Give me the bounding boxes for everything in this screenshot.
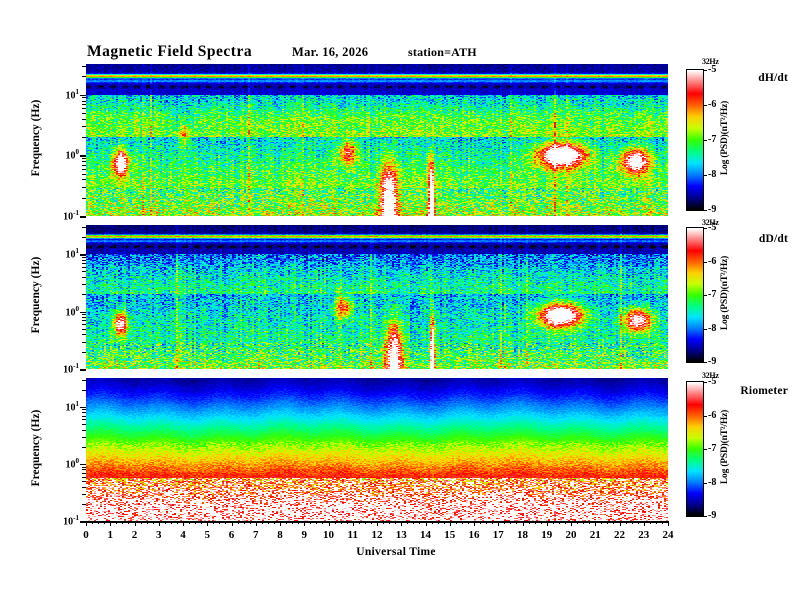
- x-tick: [644, 521, 645, 526]
- y-tick-minor: [82, 329, 86, 330]
- x-tick-minor: [274, 521, 275, 524]
- x-tick: [135, 521, 136, 526]
- colorbar-tick: [703, 416, 707, 417]
- spectrogram-panel-riometer: [86, 378, 668, 521]
- y-tick-minor: [82, 237, 86, 238]
- x-tick-minor: [432, 521, 433, 524]
- x-tick-minor: [529, 521, 530, 524]
- x-tick-minor: [516, 521, 517, 524]
- y-tick-major: [80, 95, 86, 97]
- y-tick-major: [80, 464, 86, 466]
- y-tick-minor: [82, 284, 86, 285]
- x-tick-minor: [341, 521, 342, 524]
- x-tick-label: 24: [654, 529, 682, 541]
- x-tick-minor: [322, 521, 323, 524]
- panel-label-dhdt: dH/dt: [706, 72, 792, 84]
- colorbar-tick: [703, 362, 707, 363]
- x-tick-minor: [244, 521, 245, 524]
- y-tick-minor: [82, 342, 86, 343]
- figure-canvas: Magnetic Field Spectra Mar. 16, 2026 sta…: [0, 0, 792, 612]
- y-tick-minor: [82, 271, 86, 272]
- x-tick: [183, 521, 184, 526]
- x-tick-minor: [468, 521, 469, 524]
- y-tick-minor: [82, 314, 86, 315]
- colorbar-tick: [703, 329, 707, 330]
- panel-label-dddt: dD/dt: [706, 233, 792, 245]
- y-tick-minor: [82, 126, 86, 127]
- x-tick-minor: [480, 521, 481, 524]
- y-tick-minor: [82, 260, 86, 261]
- y-tick-minor: [82, 161, 86, 162]
- x-tick-minor: [141, 521, 142, 524]
- y-tick-major: [80, 254, 86, 256]
- x-tick: [232, 521, 233, 526]
- x-tick-minor: [559, 521, 560, 524]
- colorbar-tick: [703, 228, 707, 229]
- x-tick-minor: [189, 521, 190, 524]
- y-tick-label: 100: [46, 305, 79, 318]
- x-tick-minor: [456, 521, 457, 524]
- colorbar-tick-label: -5: [708, 222, 716, 233]
- colorbar-tick: [703, 105, 707, 106]
- y-tick-major: [80, 216, 86, 218]
- x-tick-minor: [147, 521, 148, 524]
- x-tick-minor: [462, 521, 463, 524]
- y-tick-minor: [82, 390, 86, 391]
- x-tick-minor: [371, 521, 372, 524]
- colorbar-tick: [703, 70, 707, 71]
- x-tick-minor: [359, 521, 360, 524]
- x-tick: [474, 521, 475, 526]
- y-tick-major: [80, 369, 86, 371]
- x-tick: [280, 521, 281, 526]
- y-tick-minor: [82, 412, 86, 413]
- y-tick-minor: [82, 108, 86, 109]
- y-tick-minor: [82, 165, 86, 166]
- colorbar-tick: [703, 262, 707, 263]
- y-tick-minor: [82, 324, 86, 325]
- x-tick-minor: [219, 521, 220, 524]
- x-tick-minor: [316, 521, 317, 524]
- colorbar-tick-label: -9: [708, 510, 716, 521]
- y-tick-minor: [82, 334, 86, 335]
- x-tick-minor: [486, 521, 487, 524]
- y-tick-label: 10-1: [46, 362, 79, 375]
- y-tick-label: 10-1: [46, 209, 79, 222]
- colorbar-tick-label: -8: [708, 169, 716, 180]
- x-tick: [547, 521, 548, 526]
- x-tick-minor: [419, 521, 420, 524]
- x-tick-minor: [171, 521, 172, 524]
- y-tick-minor: [82, 437, 86, 438]
- x-tick: [353, 521, 354, 526]
- y-tick-minor: [82, 137, 86, 138]
- x-tick-minor: [650, 521, 651, 524]
- colorbar-tick: [703, 382, 707, 383]
- y-tick-minor: [82, 257, 86, 258]
- x-tick-minor: [128, 521, 129, 524]
- y-tick-minor: [82, 487, 86, 488]
- x-tick-minor: [626, 521, 627, 524]
- y-tick-minor: [82, 380, 86, 381]
- x-tick-minor: [638, 521, 639, 524]
- x-tick-minor: [407, 521, 408, 524]
- y-tick-label: 101: [46, 88, 79, 101]
- panel-label-riometer: Riometer: [706, 385, 792, 397]
- x-tick: [377, 521, 378, 526]
- x-tick-minor: [365, 521, 366, 524]
- x-tick-minor: [413, 521, 414, 524]
- colorbar-tick-label: -8: [708, 323, 716, 334]
- x-tick-minor: [98, 521, 99, 524]
- x-tick-minor: [389, 521, 390, 524]
- x-tick-minor: [195, 521, 196, 524]
- y-tick-major: [80, 407, 86, 409]
- x-tick-minor: [238, 521, 239, 524]
- y-tick-minor: [82, 467, 86, 468]
- x-tick-minor: [177, 521, 178, 524]
- x-tick-minor: [504, 521, 505, 524]
- x-tick-minor: [165, 521, 166, 524]
- y-tick-minor: [82, 169, 86, 170]
- colorbar-tick-label: -5: [708, 64, 716, 75]
- x-tick-minor: [122, 521, 123, 524]
- x-tick: [304, 521, 305, 526]
- y-tick-minor: [82, 263, 86, 264]
- x-axis-title: Universal Time: [0, 546, 792, 558]
- y-tick-minor: [82, 447, 86, 448]
- y-tick-minor: [82, 267, 86, 268]
- y-tick-minor: [82, 179, 86, 180]
- y-tick-minor: [82, 430, 86, 431]
- y-tick-minor: [82, 174, 86, 175]
- x-tick: [668, 521, 669, 526]
- x-tick-minor: [116, 521, 117, 524]
- y-tick-minor: [82, 187, 86, 188]
- x-tick: [498, 521, 499, 526]
- x-tick-minor: [444, 521, 445, 524]
- y-tick-major: [80, 312, 86, 314]
- x-tick-minor: [201, 521, 202, 524]
- x-tick-minor: [601, 521, 602, 524]
- x-tick-minor: [310, 521, 311, 524]
- y-tick-minor: [82, 277, 86, 278]
- x-tick-minor: [104, 521, 105, 524]
- x-tick-minor: [541, 521, 542, 524]
- x-tick-minor: [613, 521, 614, 524]
- colorbar-tick-label: -7: [708, 443, 716, 454]
- x-tick: [401, 521, 402, 526]
- y-tick-minor: [82, 473, 86, 474]
- y-tick-minor: [82, 494, 86, 495]
- colorbar-frame: [686, 381, 704, 517]
- x-tick-minor: [492, 521, 493, 524]
- colorbar-frame: [686, 69, 704, 211]
- colorbar-title: Log (PSD)(nT²/Hz): [720, 226, 730, 360]
- x-tick-minor: [347, 521, 348, 524]
- colorbar-tick-label: -6: [708, 99, 716, 110]
- y-tick-label: 101: [46, 400, 79, 413]
- x-tick-minor: [395, 521, 396, 524]
- y-tick-minor: [82, 481, 86, 482]
- x-tick-minor: [662, 521, 663, 524]
- x-tick-minor: [213, 521, 214, 524]
- x-tick-minor: [250, 521, 251, 524]
- y-tick-minor: [82, 97, 86, 98]
- x-tick: [620, 521, 621, 526]
- y-tick-minor: [82, 320, 86, 321]
- y-tick-minor: [82, 198, 86, 199]
- spectrogram-panel-dhdt: [86, 64, 668, 216]
- x-tick-minor: [607, 521, 608, 524]
- colorbar-tick-label: -7: [708, 134, 716, 145]
- page-title: Magnetic Field Spectra: [87, 43, 252, 61]
- y-tick-minor: [82, 419, 86, 420]
- y-tick-minor: [82, 352, 86, 353]
- y-tick-minor: [82, 504, 86, 505]
- x-tick-minor: [577, 521, 578, 524]
- x-tick: [595, 521, 596, 526]
- x-tick-minor: [298, 521, 299, 524]
- colorbar-tick: [703, 295, 707, 296]
- colorbar-tick: [703, 210, 707, 211]
- x-tick-minor: [656, 521, 657, 524]
- y-tick-minor: [82, 416, 86, 417]
- colorbar-tick-label: -9: [708, 356, 716, 367]
- y-tick-minor: [82, 469, 86, 470]
- y-tick-minor: [82, 66, 86, 67]
- colorbar-tick-label: -7: [708, 289, 716, 300]
- x-tick-minor: [553, 521, 554, 524]
- y-tick-minor: [82, 317, 86, 318]
- x-tick-minor: [632, 521, 633, 524]
- y-tick-minor: [82, 113, 86, 114]
- x-tick: [256, 521, 257, 526]
- date-label: Mar. 16, 2026: [292, 45, 368, 60]
- y-tick-minor: [82, 227, 86, 228]
- colorbar-tick: [703, 175, 707, 176]
- x-tick: [86, 521, 87, 526]
- x-tick: [571, 521, 572, 526]
- x-tick-minor: [383, 521, 384, 524]
- x-tick: [450, 521, 451, 526]
- y-axis-title: Frequency (Hz): [30, 78, 42, 198]
- x-tick: [207, 521, 208, 526]
- x-tick-minor: [262, 521, 263, 524]
- x-tick: [426, 521, 427, 526]
- y-tick-minor: [82, 477, 86, 478]
- colorbar-tick-label: -9: [708, 204, 716, 215]
- y-tick-major: [80, 155, 86, 157]
- colorbar-tick: [703, 449, 707, 450]
- x-tick-minor: [510, 521, 511, 524]
- y-tick-minor: [82, 409, 86, 410]
- colorbar-tick: [703, 516, 707, 517]
- x-tick: [110, 521, 111, 526]
- x-tick-minor: [292, 521, 293, 524]
- colorbar-tick: [703, 483, 707, 484]
- x-tick-minor: [153, 521, 154, 524]
- x-tick: [329, 521, 330, 526]
- x-tick-minor: [286, 521, 287, 524]
- y-tick-label: 100: [46, 148, 79, 161]
- y-tick-minor: [82, 119, 86, 120]
- spectrogram-panel-dddt: [86, 225, 668, 369]
- y-axis-title: Frequency (Hz): [30, 388, 42, 508]
- y-tick-minor: [82, 294, 86, 295]
- x-tick-minor: [565, 521, 566, 524]
- colorbar-title: Log (PSD)(nT²/Hz): [720, 380, 730, 514]
- y-tick-label: 100: [46, 457, 79, 470]
- x-tick-minor: [438, 521, 439, 524]
- x-tick-minor: [535, 521, 536, 524]
- colorbar-tick: [703, 140, 707, 141]
- station-label: station=ATH: [408, 45, 477, 60]
- y-tick-label: 10-1: [46, 514, 79, 527]
- y-tick-minor: [82, 424, 86, 425]
- x-tick: [159, 521, 160, 526]
- colorbar-tick-label: -6: [708, 256, 716, 267]
- colorbar-title: Log (PSD)(nT²/Hz): [720, 68, 730, 208]
- x-tick-minor: [225, 521, 226, 524]
- x-tick-minor: [589, 521, 590, 524]
- colorbar-tick-label: -8: [708, 477, 716, 488]
- colorbar-tick-label: -6: [708, 410, 716, 421]
- x-tick-minor: [92, 521, 93, 524]
- y-tick-label: 101: [46, 247, 79, 260]
- x-tick-minor: [583, 521, 584, 524]
- y-tick-minor: [82, 76, 86, 77]
- y-tick-minor: [82, 158, 86, 159]
- colorbar-tick-label: -5: [708, 376, 716, 387]
- colorbar-frame: [686, 227, 704, 363]
- y-axis-title: Frequency (Hz): [30, 235, 42, 355]
- x-tick-minor: [335, 521, 336, 524]
- y-tick-minor: [82, 101, 86, 102]
- y-tick-minor: [82, 104, 86, 105]
- x-tick-minor: [268, 521, 269, 524]
- x-tick: [523, 521, 524, 526]
